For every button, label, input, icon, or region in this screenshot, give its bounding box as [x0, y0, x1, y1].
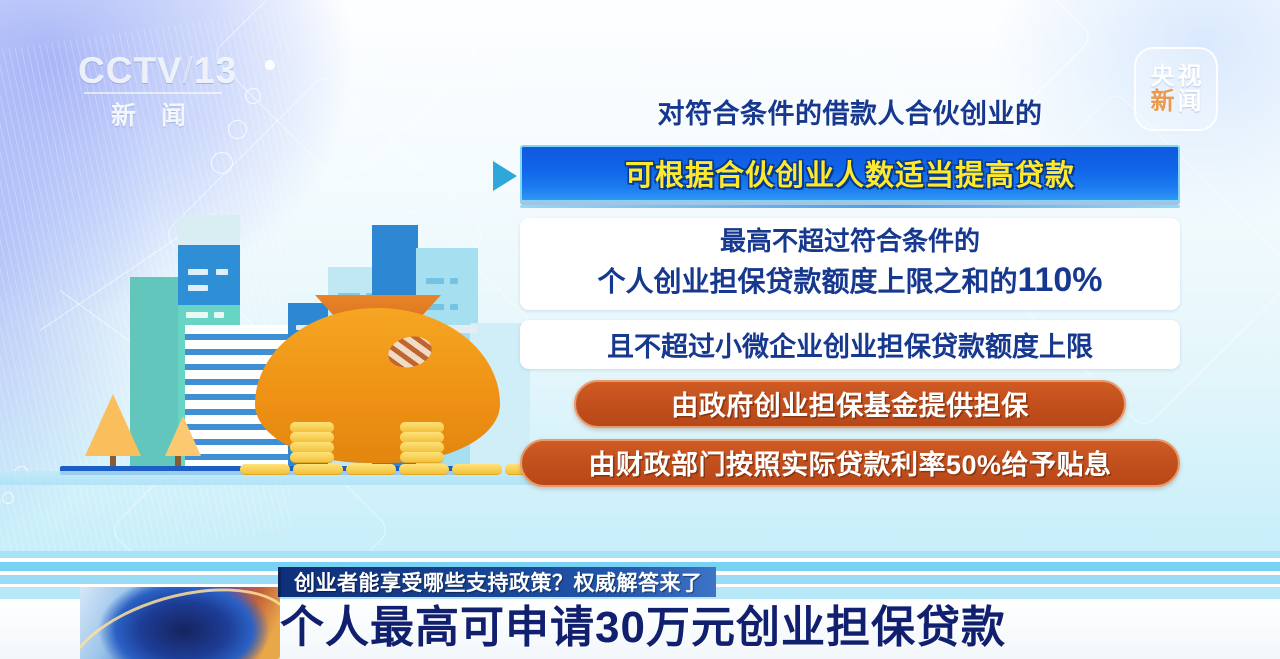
- tree: [155, 442, 201, 466]
- highlight-underline: [520, 205, 1180, 208]
- app-logo-char-shi: 视: [1178, 65, 1202, 89]
- info-pill-1-text: 由政府创业担保基金提供担保: [671, 384, 1029, 423]
- app-logo-row-1: 央 视: [1151, 65, 1202, 89]
- cctv-news-app-logo: 央 视 新 闻: [1134, 47, 1218, 131]
- app-logo-char-wen: 闻: [1178, 90, 1202, 114]
- news-swirl-graphic: [80, 587, 280, 659]
- tree: [85, 394, 141, 466]
- screen: 对符合条件的借款人合伙创业的 可根据合伙创业人数适当提高贷款 最高不超过符合条件…: [0, 0, 1280, 659]
- arrow-right-icon: [493, 161, 517, 191]
- coin-row: [240, 465, 555, 475]
- coin-stack: [400, 423, 444, 463]
- info-box-1-line1: 最高不超过符合条件的: [720, 225, 980, 258]
- city-money-bag-illustration: [0, 163, 540, 563]
- policy-content-panel: 对符合条件的借款人合伙创业的 可根据合伙创业人数适当提高贷款 最高不超过符合条件…: [520, 98, 1180, 487]
- coin-stack: [290, 423, 334, 463]
- info-box-1-line2: 个人创业担保贷款额度上限之和的110%: [597, 259, 1102, 303]
- info-pill-2-text: 由财政部门按照实际贷款利率50%给予贴息: [588, 443, 1111, 482]
- info-box-1-percent: 110%: [1017, 261, 1102, 299]
- building: [178, 245, 240, 305]
- highlight-box: 可根据合伙创业人数适当提高贷款: [520, 145, 1180, 202]
- cctv13-logo: CCTV/13 新 闻: [78, 52, 228, 130]
- info-box-2: 且不超过小微企业创业担保贷款额度上限: [520, 320, 1180, 369]
- info-box-2-text: 且不超过小微企业创业担保贷款额度上限: [607, 325, 1093, 364]
- highlight-text: 可根据合伙创业人数适当提高贷款: [625, 152, 1075, 194]
- cctv-subtitle: 新 闻: [78, 96, 228, 132]
- cctv-slash: /: [183, 50, 194, 91]
- cctv-number: 13: [194, 50, 237, 91]
- info-pill-2: 由财政部门按照实际贷款利率50%给予贴息: [520, 439, 1180, 487]
- cctv13-logo-top: CCTV/13: [78, 52, 228, 89]
- info-pill-1: 由政府创业担保基金提供担保: [574, 380, 1126, 428]
- app-logo-char-yang: 央: [1151, 65, 1175, 89]
- info-box-1: 最高不超过符合条件的 个人创业担保贷款额度上限之和的110%: [520, 218, 1180, 310]
- app-logo-char-xin: 新: [1151, 90, 1175, 114]
- lead-line: 对符合条件的借款人合伙创业的: [520, 98, 1180, 132]
- highlight-row: 可根据合伙创业人数适当提高贷款: [520, 145, 1180, 208]
- cctv-logo-rule: [84, 92, 222, 94]
- headline-text: 个人最高可申请30万元创业担保贷款: [280, 591, 1006, 655]
- cctv-letters: CCTV: [78, 50, 183, 91]
- info-box-1-line2-text: 个人创业担保贷款额度上限之和的: [597, 266, 1017, 297]
- lower-third: 创业者能享受哪些支持政策？权威解答来了 个人最高可申请30万元创业担保贷款: [0, 551, 1280, 659]
- app-logo-row-2: 新 闻: [1151, 90, 1202, 114]
